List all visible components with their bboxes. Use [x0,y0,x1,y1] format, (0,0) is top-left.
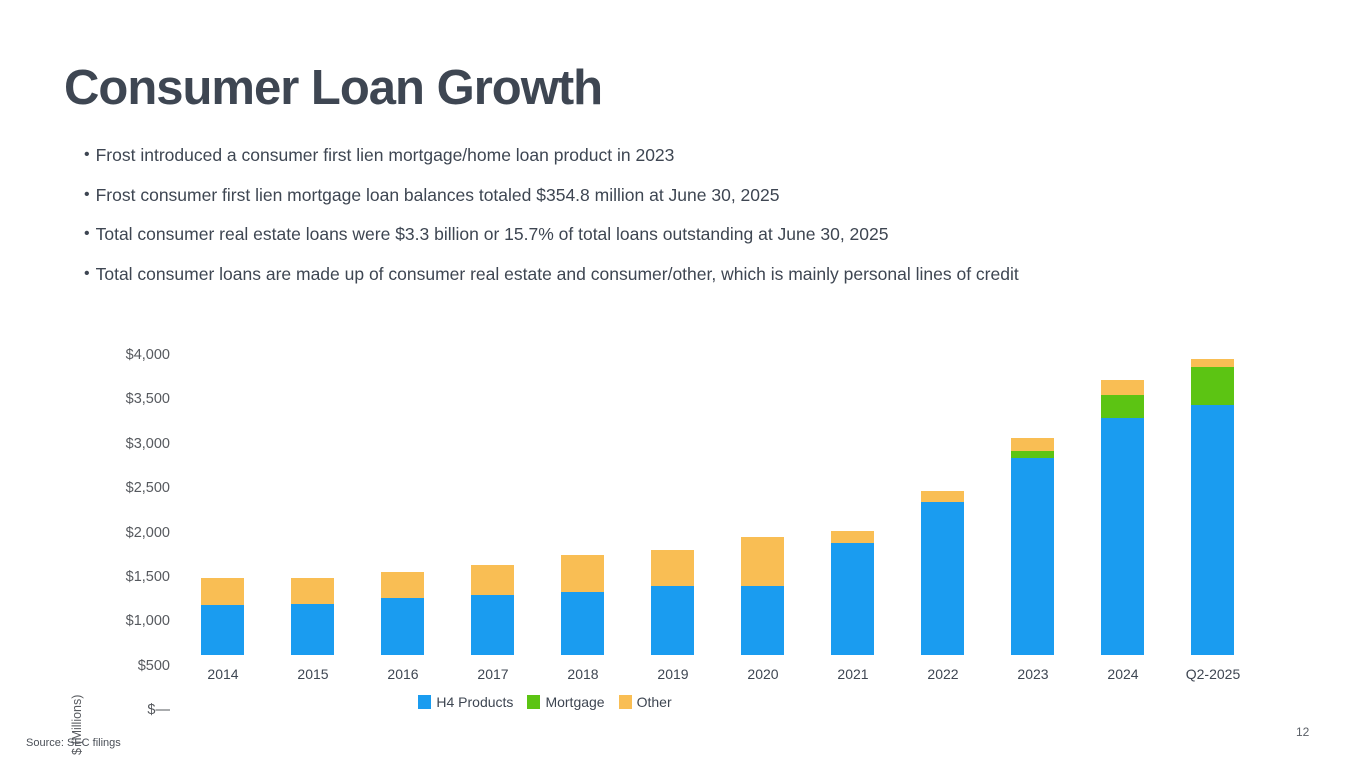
y-axis-tick-label: $3,500 [100,391,170,407]
bar-segment-other [381,572,424,598]
x-axis-tick-label: 2014 [178,666,268,682]
y-axis-tick-label: $1,500 [100,569,170,585]
bar-2019[interactable] [651,550,694,655]
bar-segment-other [201,578,244,605]
bar-segment-other [651,550,694,586]
bar-segment-h4-products [471,595,514,655]
bullet-list: • Frost introduced a consumer first lien… [84,145,1204,303]
x-axis-tick-label: 2018 [538,666,628,682]
bar-segment-other [1191,359,1234,368]
legend-swatch-icon [527,695,540,709]
list-item-text: Frost introduced a consumer first lien m… [96,145,675,166]
x-axis-tick-label: 2024 [1078,666,1168,682]
source-note: Source: SEC filings [26,737,121,749]
bar-2017[interactable] [471,565,514,655]
bullet-marker-icon: • [84,145,90,165]
x-axis-tick-label: 2019 [628,666,718,682]
bar-2014[interactable] [201,578,244,655]
bar-segment-other [741,537,784,586]
bar-segment-other [291,578,334,604]
list-item-text: Total consumer real estate loans were $3… [96,224,889,245]
bar-2023[interactable] [1011,438,1054,655]
bullet-marker-icon: • [84,264,90,284]
x-axis-tick-label: 2017 [448,666,538,682]
bar-2021[interactable] [831,531,874,655]
bar-2016[interactable] [381,572,424,656]
page-title: Consumer Loan Growth [64,62,602,116]
x-axis-tick-label: 2022 [898,666,988,682]
x-axis-tick-label: 2015 [268,666,358,682]
legend-item-other[interactable]: Other [619,694,672,710]
list-item: • Total consumer real estate loans were … [84,224,1204,245]
legend-item-mortgage[interactable]: Mortgage [527,694,604,710]
bar-segment-h4-products [651,586,694,655]
y-axis-tick-label: $4,000 [100,347,170,363]
x-axis-tick-label: 2023 [988,666,1078,682]
list-item: • Frost consumer first lien mortgage loa… [84,185,1204,206]
bar-segment-mortgage [1191,367,1234,405]
bar-segment-h4-products [1191,405,1234,655]
bar-segment-other [471,565,514,595]
bullet-marker-icon: • [84,224,90,244]
y-axis-ticks: $4,000$3,500$3,000$2,500$2,000$1,500$1,0… [95,300,170,710]
bar-segment-other [1011,438,1054,451]
bar-2020[interactable] [741,537,784,655]
bar-segment-h4-products [561,592,604,655]
legend-item-h4-products[interactable]: H4 Products [418,694,513,710]
bar-segment-h4-products [1101,418,1144,655]
bar-segment-h4-products [201,605,244,655]
bar-2018[interactable] [561,555,604,655]
x-axis-tick-label: 2020 [718,666,808,682]
bullet-marker-icon: • [84,185,90,205]
bar-segment-other [561,555,604,592]
list-item: • Total consumer loans are made up of co… [84,264,1204,285]
legend-swatch-icon [619,695,632,709]
slide: Consumer Loan Growth • Frost introduced … [0,0,1365,768]
bar-segment-h4-products [291,604,334,655]
x-axis-tick-label: 2016 [358,666,448,682]
page-number: 12 [1296,725,1309,739]
list-item-text: Total consumer loans are made up of cons… [96,264,1019,285]
y-axis-tick-label: $3,000 [100,436,170,452]
bar-segment-other [921,491,964,502]
y-axis-tick-label: $1,000 [100,613,170,629]
plot-area: 2014201520162017201820192020202120222023… [180,300,1270,710]
y-axis-tick-label: $2,000 [100,525,170,541]
stacked-bar-chart: $ (Millions) $4,000$3,500$3,000$2,500$2,… [0,300,1365,710]
y-axis-tick-label: $2,500 [100,480,170,496]
bar-segment-h4-products [1011,458,1054,655]
y-axis-tick-label: $500 [100,658,170,674]
chart-legend: H4 ProductsMortgageOther [0,694,1090,710]
bar-segment-mortgage [1101,395,1144,419]
bar-segment-other [831,531,874,543]
legend-label: H4 Products [436,694,513,710]
bar-2024[interactable] [1101,380,1144,655]
bar-segment-h4-products [921,502,964,655]
legend-label: Mortgage [545,694,604,710]
bar-segment-other [1101,380,1144,394]
legend-swatch-icon [418,695,431,709]
legend-label: Other [637,694,672,710]
bar-segment-h4-products [741,586,784,655]
x-axis-tick-label: Q2-2025 [1168,666,1258,682]
list-item-text: Frost consumer first lien mortgage loan … [96,185,780,206]
list-item: • Frost introduced a consumer first lien… [84,145,1204,166]
bar-segment-h4-products [831,543,874,655]
bar-Q2-2025[interactable] [1191,359,1234,655]
bar-segment-h4-products [381,598,424,656]
bar-2015[interactable] [291,578,334,655]
x-axis-tick-label: 2021 [808,666,898,682]
bar-2022[interactable] [921,491,964,655]
